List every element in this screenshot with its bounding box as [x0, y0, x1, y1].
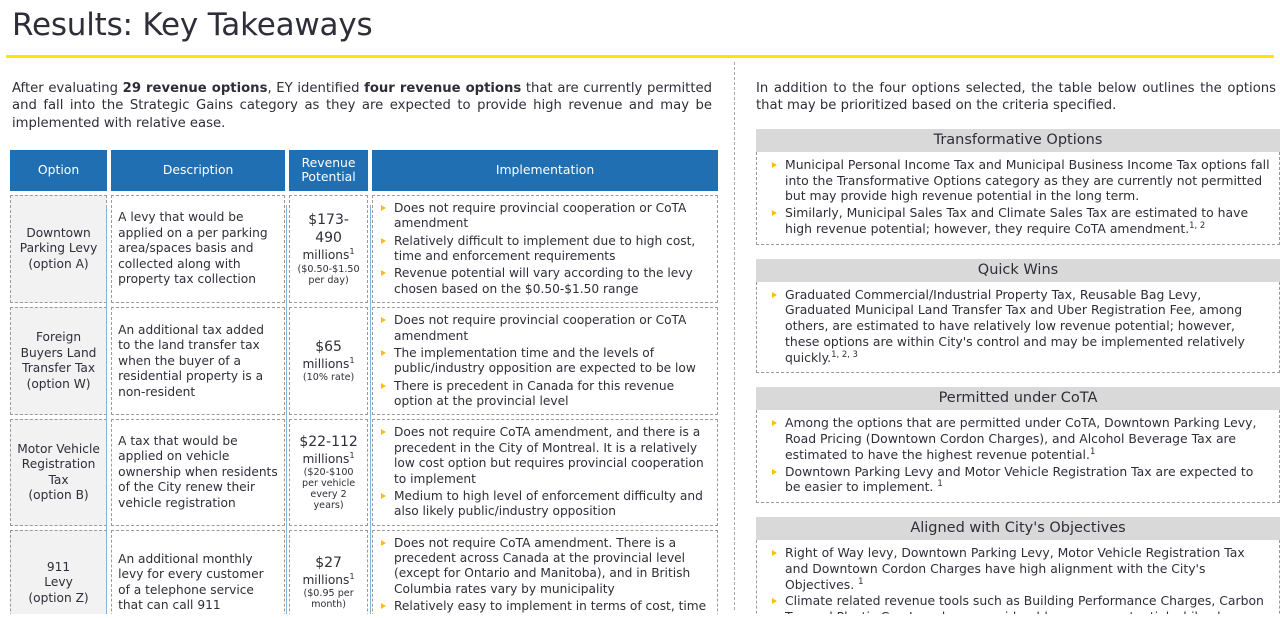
option-line: Tax [49, 473, 69, 487]
footnote-marker: 1, 2 [1189, 220, 1205, 230]
option-line: Transfer Tax [22, 361, 95, 375]
implementation-bullet: The implementation time and the levels o… [379, 346, 711, 377]
cell-revenue-potential: $65millions1(10% rate) [289, 307, 368, 415]
footnote-marker: 1 [937, 478, 942, 488]
page-title: Results: Key Takeaways [0, 0, 1280, 44]
section-header: Permitted under CoTA [756, 387, 1280, 410]
cell-description: An additional monthly levy for every cus… [111, 530, 285, 614]
implementation-bullet: Does not require provincial cooperation … [379, 201, 711, 232]
implementation-bullet: Revenue potential will vary according to… [379, 266, 711, 297]
section-header: Transformative Options [756, 129, 1280, 152]
cell-option: ForeignBuyers LandTransfer Tax(option W) [10, 307, 107, 415]
option-line: Downtown [26, 226, 90, 240]
footnote-marker: 1 [349, 450, 354, 460]
option-line: Parking Levy [20, 241, 98, 255]
table-row: ForeignBuyers LandTransfer Tax(option W)… [10, 307, 718, 415]
criteria-sections: Transformative OptionsMunicipal Personal… [756, 129, 1280, 614]
triangle-bullet-icon [772, 550, 777, 556]
revenue-unit: millions1 [296, 248, 361, 263]
revenue-note: (10% rate) [296, 372, 361, 383]
column-divider-3 [370, 205, 371, 614]
implementation-bullet: Relatively difficult to implement due to… [379, 234, 711, 265]
triangle-bullet-icon [381, 493, 386, 499]
option-line: (option B) [28, 488, 88, 502]
revenue-note: ($0.95 per month) [296, 588, 361, 610]
revenue-amount: $173-490 [296, 212, 361, 248]
implementation-bullet: Does not require CoTA amendment, and the… [379, 425, 711, 487]
cell-implementation: Does not require CoTA amendment. There i… [372, 530, 718, 614]
criteria-section: Quick WinsGraduated Commercial/Industria… [756, 259, 1280, 374]
cell-description: A levy that would be applied on a per pa… [111, 195, 285, 303]
column-divider-2 [286, 205, 287, 614]
option-line: (option A) [28, 257, 88, 271]
table-row: 911Levy(option Z)An additional monthly l… [10, 530, 718, 614]
section-header: Quick Wins [756, 259, 1280, 282]
criteria-section: Aligned with City's ObjectivesRight of W… [756, 517, 1280, 613]
cell-revenue-potential: $173-490millions1($0.50-$1.50 per day) [289, 195, 368, 303]
table-row: Motor VehicleRegistrationTax(option B)A … [10, 419, 718, 525]
section-bullet-list: Right of Way levy, Downtown Parking Levy… [763, 545, 1271, 613]
section-bullet: Among the options that are permitted und… [763, 415, 1271, 462]
triangle-bullet-icon [381, 317, 386, 323]
criteria-section: Permitted under CoTAAmong the options th… [756, 387, 1280, 503]
right-panel: In addition to the four options selected… [735, 58, 1280, 614]
criteria-section: Transformative OptionsMunicipal Personal… [756, 129, 1280, 245]
footnote-marker: 1 [349, 571, 354, 581]
option-line: 911 [47, 560, 70, 574]
cell-implementation: Does not require provincial cooperation … [372, 195, 718, 303]
implementation-bullet-list: Does not require CoTA amendment. There i… [379, 536, 711, 614]
implementation-bullet: Does not require provincial cooperation … [379, 313, 711, 344]
triangle-bullet-icon [381, 350, 386, 356]
column-header-revenue-potential: RevenuePotential [289, 150, 368, 191]
implementation-bullet: Does not require CoTA amendment. There i… [379, 536, 711, 598]
table-row: DowntownParking Levy(option A)A levy tha… [10, 195, 718, 303]
option-line: Registration [22, 457, 96, 471]
implementation-bullet: There is precedent in Canada for this re… [379, 379, 711, 410]
triangle-bullet-icon [772, 162, 777, 168]
revenue-unit: millions1 [296, 452, 361, 467]
table-header-row: Option Description RevenuePotential Impl… [10, 150, 718, 191]
section-body: Among the options that are permitted und… [756, 410, 1280, 503]
cell-option: DowntownParking Levy(option A) [10, 195, 107, 303]
footnote-marker: 1 [858, 576, 863, 586]
revenue-options-table: Option Description RevenuePotential Impl… [6, 146, 722, 614]
triangle-bullet-icon [381, 383, 386, 389]
triangle-bullet-icon [772, 469, 777, 475]
triangle-bullet-icon [381, 238, 386, 244]
table-body: DowntownParking Levy(option A)A levy tha… [10, 195, 718, 614]
implementation-bullet: Medium to high level of enforcement diff… [379, 489, 711, 520]
section-bullet: Municipal Personal Income Tax and Munici… [763, 157, 1271, 204]
column-header-implementation: Implementation [372, 150, 718, 191]
cell-implementation: Does not require provincial cooperation … [372, 307, 718, 415]
cell-option: 911Levy(option Z) [10, 530, 107, 614]
triangle-bullet-icon [381, 270, 386, 276]
triangle-bullet-icon [772, 292, 777, 298]
section-bullet: Graduated Commercial/Industrial Property… [763, 287, 1271, 366]
cell-description: An additional tax added to the land tran… [111, 307, 285, 415]
implementation-bullet-list: Does not require provincial cooperation … [379, 313, 711, 409]
triangle-bullet-icon [772, 420, 777, 426]
footnote-marker: 1 [1090, 446, 1095, 456]
column-header-option: Option [10, 150, 107, 191]
cell-revenue-potential: $27millions1($0.95 per month) [289, 530, 368, 614]
option-line: Levy [44, 575, 73, 589]
left-intro-paragraph: After evaluating 29 revenue options, EY … [0, 71, 734, 133]
implementation-bullet-list: Does not require provincial cooperation … [379, 201, 711, 297]
option-line: Motor Vehicle [17, 442, 100, 456]
section-bullet-list: Municipal Personal Income Tax and Munici… [763, 157, 1271, 237]
revenue-unit: millions1 [296, 357, 361, 372]
cell-implementation: Does not require CoTA amendment, and the… [372, 419, 718, 525]
triangle-bullet-icon [381, 429, 386, 435]
triangle-bullet-icon [772, 598, 777, 604]
section-bullet: Downtown Parking Levy and Motor Vehicle … [763, 464, 1271, 496]
implementation-bullet: Relatively easy to implement in terms of… [379, 599, 711, 613]
section-body: Right of Way levy, Downtown Parking Levy… [756, 540, 1280, 613]
option-line: Foreign [36, 330, 81, 344]
option-line: (option W) [27, 377, 91, 391]
triangle-bullet-icon [381, 205, 386, 211]
section-bullet: Climate related revenue tools such as Bu… [763, 593, 1271, 613]
section-bullet: Similarly, Municipal Sales Tax and Clima… [763, 205, 1271, 237]
triangle-bullet-icon [381, 540, 386, 546]
footnote-marker: 1 [349, 246, 354, 256]
footnote-marker: 1 [349, 355, 354, 365]
cell-description: A tax that would be applied on vehicle o… [111, 419, 285, 525]
column-header-description: Description [111, 150, 285, 191]
content-area: After evaluating 29 revenue options, EY … [0, 58, 1280, 614]
revenue-header-line1: Revenue [302, 155, 356, 170]
section-body: Municipal Personal Income Tax and Munici… [756, 152, 1280, 245]
revenue-note: ($20-$100 per vehicle every 2 years) [296, 467, 361, 511]
triangle-bullet-icon [772, 210, 777, 216]
left-panel: After evaluating 29 revenue options, EY … [0, 58, 734, 614]
column-divider-1 [106, 205, 107, 614]
option-line: (option Z) [28, 591, 88, 605]
footnote-marker: 1, 2, 3 [831, 349, 858, 359]
triangle-bullet-icon [381, 603, 386, 609]
cell-revenue-potential: $22-112millions1($20-$100 per vehicle ev… [289, 419, 368, 525]
implementation-bullet-list: Does not require CoTA amendment, and the… [379, 425, 711, 519]
revenue-unit: millions1 [296, 573, 361, 588]
revenue-note: ($0.50-$1.50 per day) [296, 264, 361, 286]
revenue-header-line2: Potential [301, 169, 355, 184]
section-body: Graduated Commercial/Industrial Property… [756, 282, 1280, 374]
cell-option: Motor VehicleRegistrationTax(option B) [10, 419, 107, 525]
section-bullet-list: Among the options that are permitted und… [763, 415, 1271, 495]
option-line: Buyers Land [21, 346, 97, 360]
right-intro-paragraph: In addition to the four options selected… [756, 71, 1280, 115]
section-bullet-list: Graduated Commercial/Industrial Property… [763, 287, 1271, 366]
section-bullet: Right of Way levy, Downtown Parking Levy… [763, 545, 1271, 592]
section-header: Aligned with City's Objectives [756, 517, 1280, 540]
